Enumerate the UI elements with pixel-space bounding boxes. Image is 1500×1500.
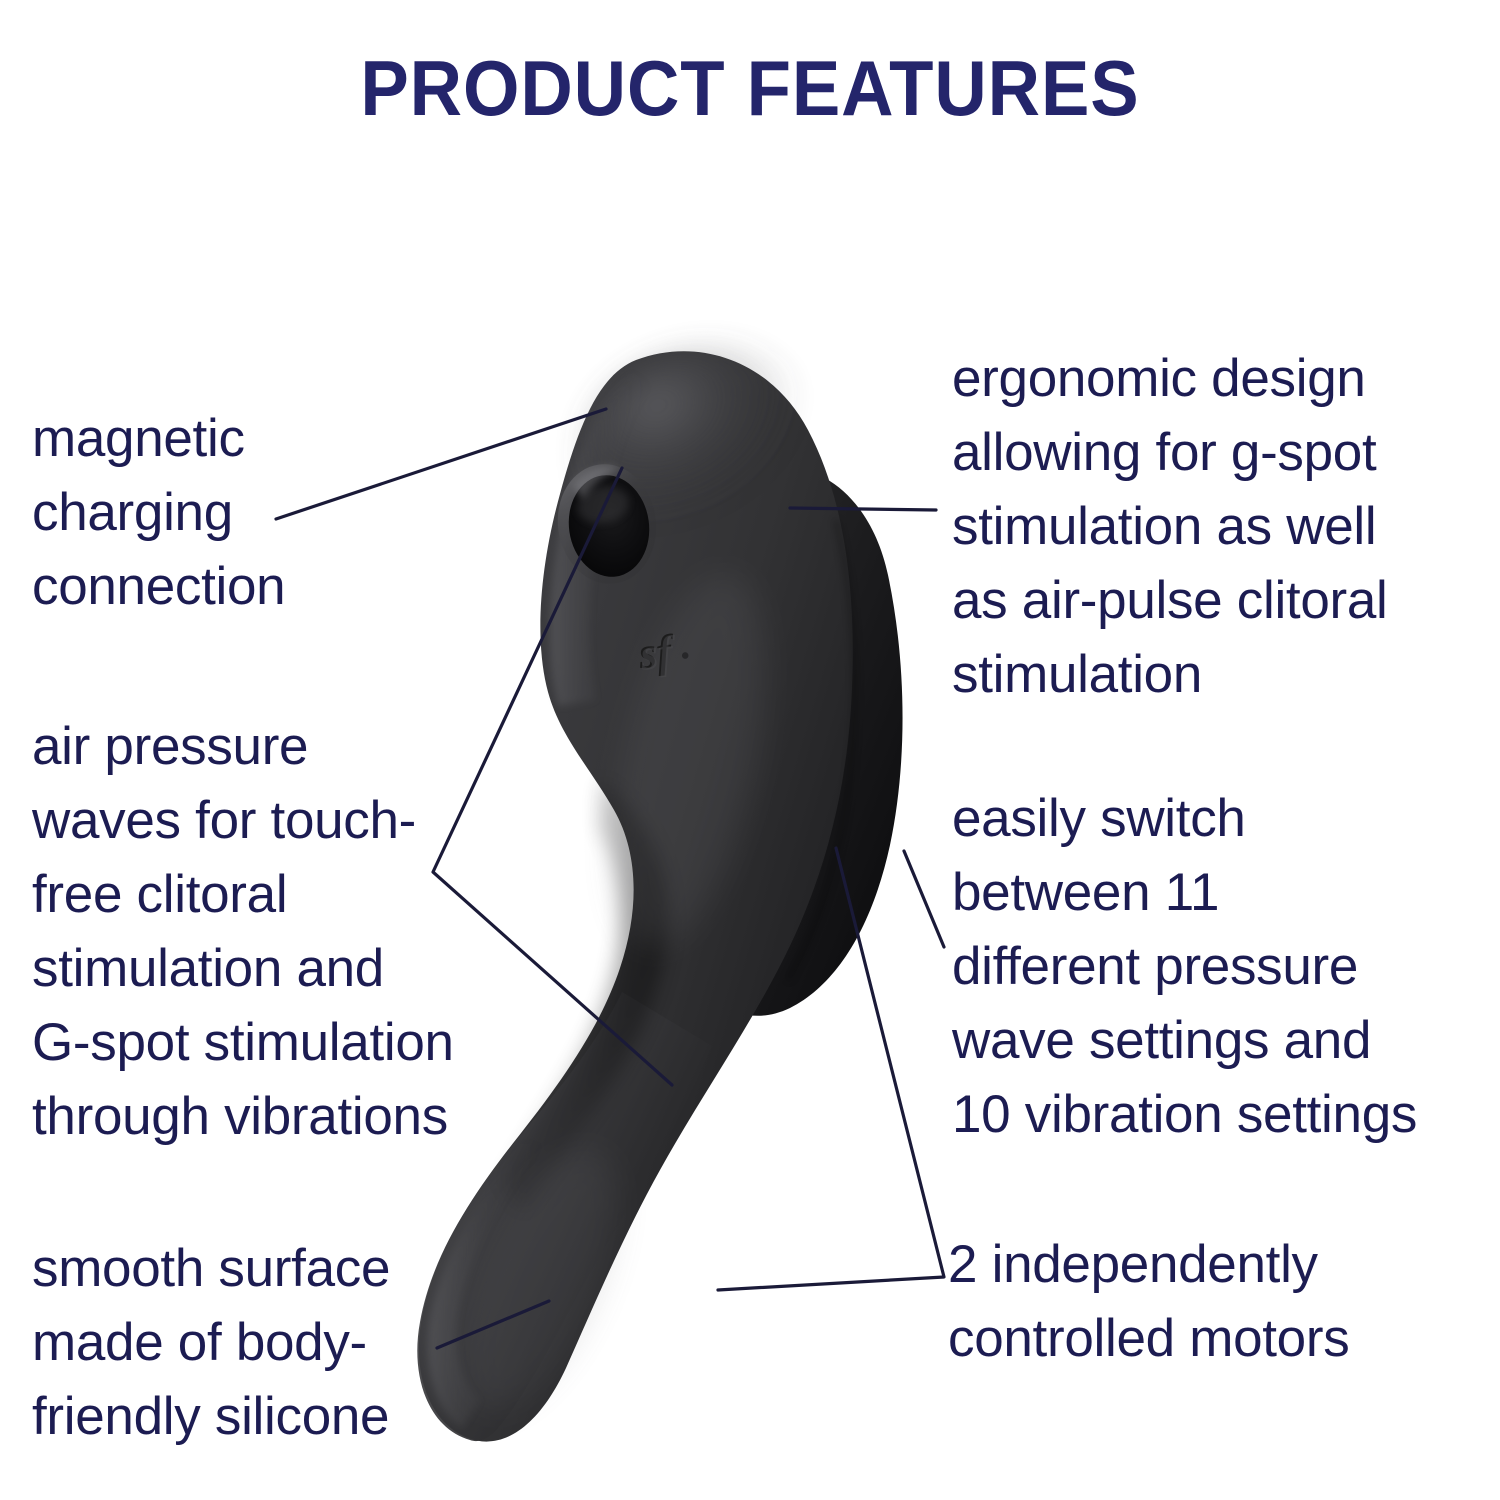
product-features-infographic: PRODUCT FEATURES — [0, 0, 1500, 1500]
callout-pressure-wave-settings: easily switch between 11 different press… — [952, 782, 1472, 1152]
callout-ergonomic-design: ergonomic design allowing for g-spot sti… — [952, 342, 1472, 712]
callout-independent-motors: 2 independently controlled motors — [948, 1228, 1478, 1376]
callout-air-pressure-waves: air pressure waves for touch- free clito… — [32, 710, 532, 1154]
callout-magnetic-charging: magnetic charging connection — [32, 402, 462, 624]
callout-smooth-surface: smooth surface made of body- friendly si… — [32, 1232, 462, 1454]
